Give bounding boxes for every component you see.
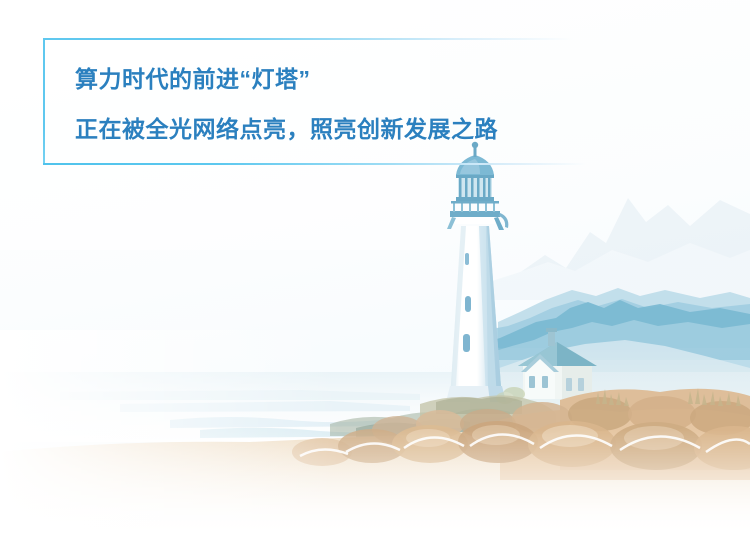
tower-window	[463, 334, 470, 352]
lighthouse-gallery	[450, 211, 500, 217]
card-border-bottom	[43, 163, 620, 165]
tower-window	[465, 253, 469, 265]
house-window	[529, 376, 535, 388]
card-border-top	[43, 38, 620, 40]
house-window	[542, 376, 548, 388]
house-chimney	[548, 330, 555, 346]
headline-text-block: 算力时代的前进“灯塔” 正在被全光网络点亮，照亮创新发展之路	[75, 54, 595, 154]
poster-canvas: 算力时代的前进“灯塔” 正在被全光网络点亮，照亮创新发展之路	[0, 0, 750, 537]
house-window	[566, 378, 572, 391]
headline-line-1: 算力时代的前进“灯塔”	[75, 54, 595, 104]
left-fade	[0, 330, 340, 537]
card-border-left	[43, 38, 45, 165]
tower-window	[465, 296, 471, 312]
headline-card: 算力时代的前进“灯塔” 正在被全光网络点亮，照亮创新发展之路	[43, 38, 620, 165]
headline-line-2: 正在被全光网络点亮，照亮创新发展之路	[75, 104, 595, 154]
house-window	[578, 378, 584, 391]
